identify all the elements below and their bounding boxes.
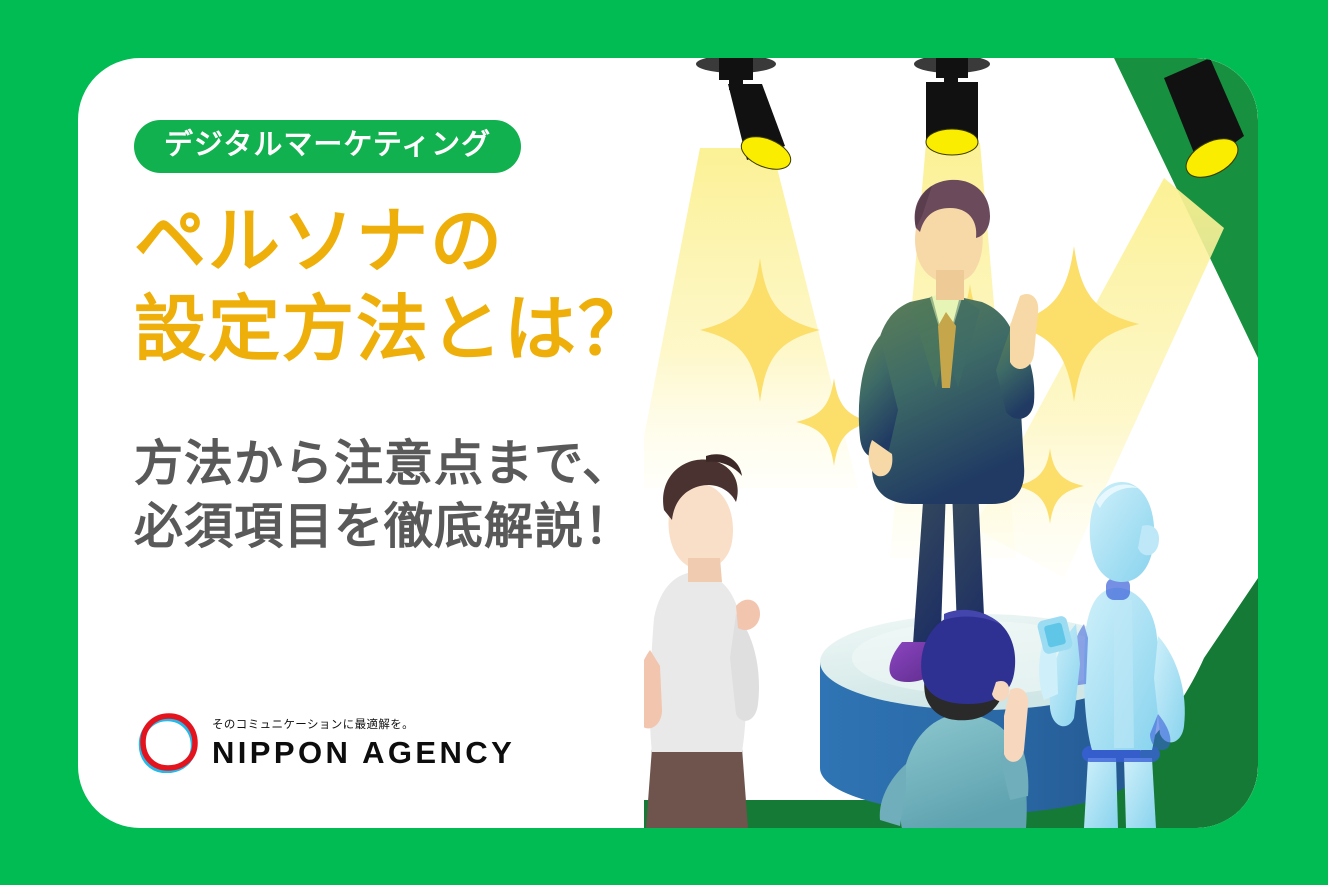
category-badge: デジタルマーケティング: [134, 120, 521, 173]
brand-logo: そのコミュニケーションに最適解を。 NIPPON AGENCY: [138, 711, 515, 773]
subtitle-line-2: 必須項目を徹底解説！: [134, 496, 754, 560]
content-card: デジタルマーケティング ペルソナの 設定方法とは？ 方法から注意点まで、 必須項…: [78, 58, 1258, 828]
headline-block: デジタルマーケティング ペルソナの 設定方法とは？ 方法から注意点まで、 必須項…: [134, 120, 754, 560]
page-subtitle: 方法から注意点まで、 必須項目を徹底解説！: [134, 433, 754, 560]
logo-wordmark: そのコミュニケーションに最適解を。 NIPPON AGENCY: [212, 716, 515, 768]
title-line-1: ペルソナの: [134, 199, 754, 287]
subtitle-line-1: 方法から注意点まで、: [134, 433, 754, 497]
logo-tagline: そのコミュニケーションに最適解を。: [212, 716, 515, 732]
title-line-2: 設定方法とは？: [134, 287, 754, 375]
logo-name: NIPPON AGENCY: [212, 737, 515, 768]
nippon-agency-mark-icon: [138, 711, 200, 773]
poster-canvas: デジタルマーケティング ペルソナの 設定方法とは？ 方法から注意点まで、 必須項…: [0, 0, 1328, 885]
page-title: ペルソナの 設定方法とは？: [134, 199, 754, 375]
